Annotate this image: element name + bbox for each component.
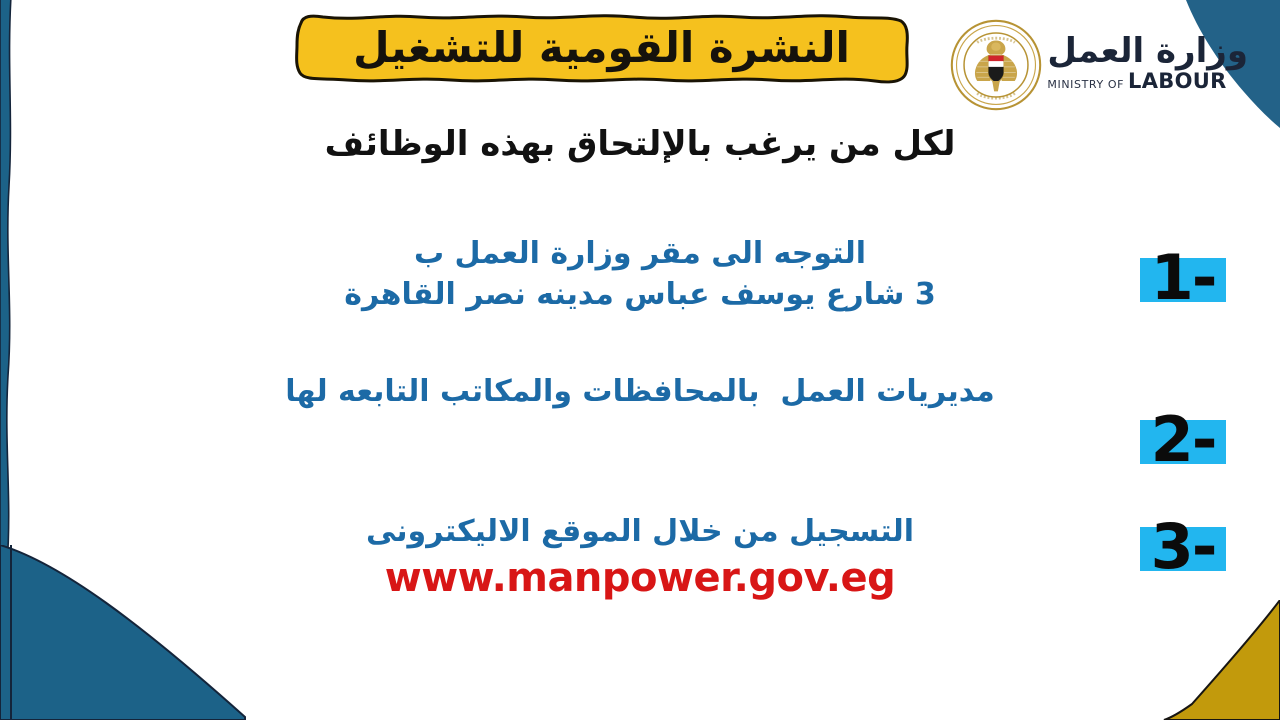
step-marker-3: 3- bbox=[1140, 527, 1226, 571]
title-banner: النشرة القومية للتشغيل bbox=[289, 11, 914, 87]
ministry-wordmark: وزارة العمل MINISTRY OF LABOUR bbox=[1047, 34, 1248, 97]
instruction-line: مديريات العمل بالمحافظات والمكاتب التابع… bbox=[0, 372, 1280, 413]
instruction-block-1: التوجه الى مقر وزارة العمل ب 3 شارع يوسف… bbox=[0, 234, 1280, 316]
poster-title: النشرة القومية للتشغيل bbox=[289, 11, 914, 87]
poster-headline: لكل من يرغب بالإلتحاق بهذه الوظائف bbox=[0, 124, 1280, 164]
instruction-block-2: مديريات العمل بالمحافظات والمكاتب التابع… bbox=[0, 372, 1280, 413]
ministry-name-arabic: وزارة العمل bbox=[1047, 34, 1248, 68]
bottom-right-gold-triangle bbox=[1130, 600, 1280, 720]
step-marker-2: 2- bbox=[1140, 420, 1226, 464]
instruction-line: التوجه الى مقر وزارة العمل ب bbox=[0, 234, 1280, 275]
instruction-block-3: التسجيل من خلال الموقع الاليكترونى www.m… bbox=[0, 512, 1280, 601]
ministry-name-latin-prefix: MINISTRY OF bbox=[1047, 78, 1124, 91]
website-link[interactable]: www.manpower.gov.eg bbox=[0, 555, 1280, 601]
step-marker-1: 1- bbox=[1140, 258, 1226, 302]
poster-canvas: النشرة القومية للتشغيل bbox=[0, 0, 1280, 720]
instruction-line: 3 شارع يوسف عباس مدينه نصر القاهرة bbox=[0, 275, 1280, 316]
ministry-logo: وزارة العمل MINISTRY OF LABOUR bbox=[949, 18, 1248, 112]
ministry-name-latin-main: LABOUR bbox=[1128, 69, 1227, 93]
ministry-seal-icon bbox=[949, 18, 1043, 112]
step-marker-label: 2- bbox=[1151, 409, 1216, 471]
ministry-name-latin: MINISTRY OF LABOUR bbox=[1047, 69, 1226, 93]
instruction-line: التسجيل من خلال الموقع الاليكترونى bbox=[0, 512, 1280, 553]
step-marker-label: 1- bbox=[1151, 247, 1216, 309]
step-marker-label: 3- bbox=[1151, 516, 1216, 578]
